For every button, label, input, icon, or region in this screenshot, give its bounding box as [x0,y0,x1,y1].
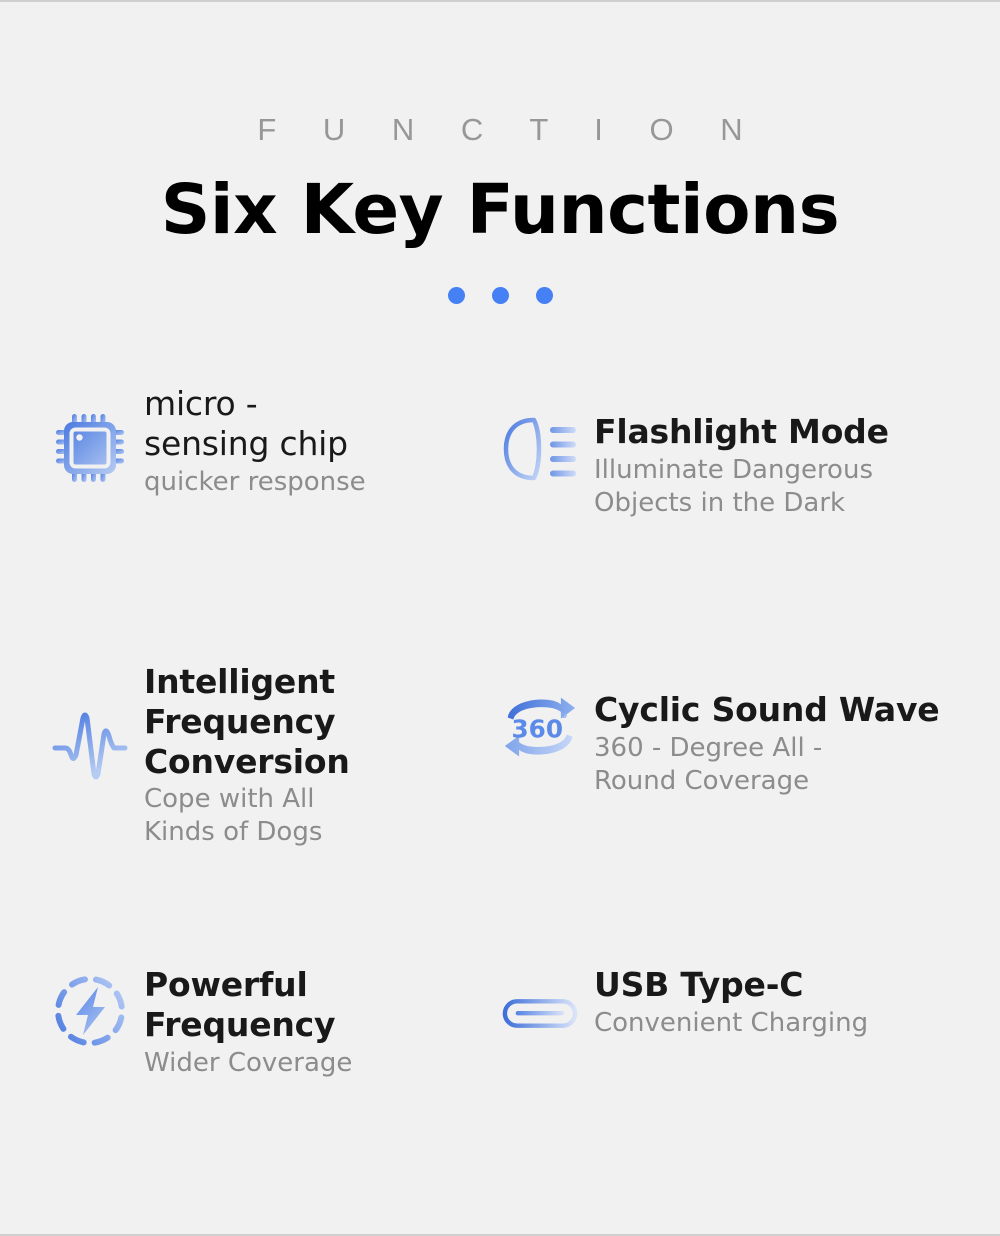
feature-subtitle: Convenient Charging [594,1007,972,1040]
feature-grid: micro - sensing chip quicker response [0,382,1000,1143]
feature-item-flashlight-mode: Flashlight Mode Illuminate Dangerous Obj… [502,410,972,660]
feature-title: Flashlight Mode [594,412,972,452]
feature-title-line: Frequency [144,1005,462,1045]
feature-subtitle: Cope with All Kinds of Dogs [144,783,462,850]
function-feature-page: F U N C T I O N Six Key Functions [0,2,1000,1143]
feature-subtitle-line: Cope with All [144,783,462,816]
feature-subtitle-line: Round Coverage [594,765,972,798]
feature-title-line: Conversion [144,742,462,782]
360-icon-label: 360 [512,715,564,744]
feature-title: USB Type-C [594,965,972,1005]
feature-text: micro - sensing chip quicker response [144,382,462,498]
feature-title-line: Intelligent [144,662,462,702]
feature-title: Cyclic Sound Wave [594,690,972,730]
360-rotation-icon: 360 ° [502,690,578,766]
feature-text: USB Type-C Convenient Charging [594,963,972,1040]
divider-dot [536,287,553,304]
page-title: Six Key Functions [0,175,1000,245]
feature-subtitle-line: Objects in the Dark [594,487,972,520]
feature-item-cyclic-sound-wave: 360 ° Cyclic Sound Wave 360 - Degree All… [502,688,972,963]
feature-item-usb-type-c: USB Type-C Convenient Charging [502,963,972,1143]
feature-subtitle: Wider Coverage [144,1047,462,1080]
eyebrow-label: F U N C T I O N [0,114,1000,145]
feature-subtitle: 360 - Degree All - Round Coverage [594,732,972,799]
360-icon-degree: ° [560,711,568,730]
feature-title: micro - sensing chip [144,384,462,463]
lightning-bolt-icon [52,973,128,1049]
feature-subtitle: quicker response [144,466,462,499]
microchip-icon [52,410,128,486]
dot-divider [0,287,1000,304]
divider-dot [448,287,465,304]
feature-subtitle: Illuminate Dangerous Objects in the Dark [594,454,972,521]
feature-title-line: Powerful [144,965,462,1005]
feature-title: Intelligent Frequency Conversion [144,662,462,781]
usb-c-port-icon [502,975,578,1051]
page-header: F U N C T I O N Six Key Functions [0,2,1000,304]
feature-item-intelligent-frequency-conversion: Intelligent Frequency Conversion Cope wi… [52,660,462,935]
feature-title-line: micro - [144,384,462,424]
feature-item-micro-sensing-chip: micro - sensing chip quicker response [52,382,462,632]
feature-text: Powerful Frequency Wider Coverage [144,963,462,1079]
feature-subtitle-line: Kinds of Dogs [144,816,462,849]
feature-title-line: Frequency [144,702,462,742]
feature-subtitle-line: 360 - Degree All - [594,732,972,765]
feature-text: Cyclic Sound Wave 360 - Degree All - Rou… [594,688,972,798]
feature-title: Powerful Frequency [144,965,462,1044]
flashlight-icon [502,412,578,488]
feature-subtitle-line: Illuminate Dangerous [594,454,972,487]
feature-text: Flashlight Mode Illuminate Dangerous Obj… [594,410,972,520]
feature-item-powerful-frequency: Powerful Frequency Wider Coverage [52,963,462,1143]
waveform-icon [52,708,128,784]
feature-title-line: sensing chip [144,424,462,464]
feature-text: Intelligent Frequency Conversion Cope wi… [144,660,462,849]
divider-dot [492,287,509,304]
